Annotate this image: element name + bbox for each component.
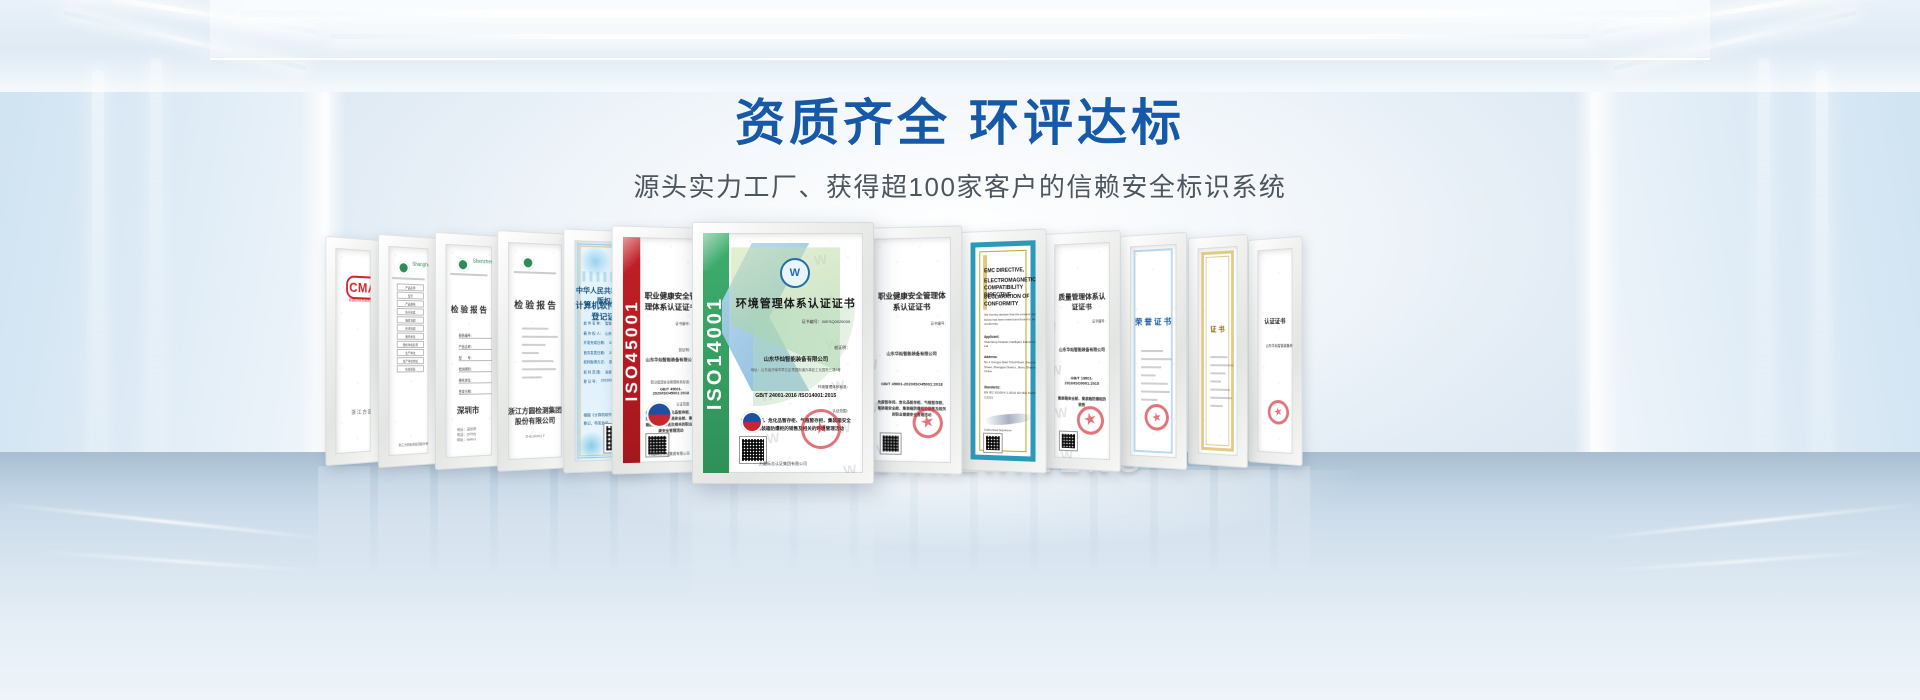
cma-badge: CMA: [346, 275, 370, 300]
iso-spine: ISO45001: [623, 237, 640, 463]
ce-body: We hereby declare that the product descr…: [984, 312, 1035, 326]
certificate-frame-quality-cert[interactable]: W W W WW W W WW W W WW W W WW W W WW W W…: [1044, 230, 1121, 472]
placeholder-text-line: [1210, 397, 1232, 400]
company-name: 山东华灿智能装备有限公司: [735, 355, 857, 363]
report-field: 检测类别：: [459, 366, 492, 372]
placeholder-text-line: [1210, 405, 1223, 407]
copyright-field-key: 权利取得方式：: [584, 359, 608, 364]
placeholder-text-line: [522, 368, 556, 370]
report-field: 报告编号：: [459, 333, 492, 339]
placeholder-text-line: [1210, 372, 1225, 374]
inspection-row: 检测日期: [397, 324, 424, 331]
cert-title: 质量管理体系认证证书: [1056, 291, 1107, 312]
certificate-frame-ce-declaration[interactable]: EMC DIRECTIVE, ELECTROMAGNETIC COMPATIBI…: [960, 228, 1047, 473]
cert-title: 认证证书: [1257, 316, 1292, 326]
cert-title: 环境管理体系认证证书: [735, 295, 857, 311]
center-certificate-reflection: [692, 484, 874, 604]
standard-label: 职业健康安全管理体系标准：: [644, 379, 699, 384]
placeholder-text-line: [1210, 356, 1227, 358]
official-seal: ★: [1266, 398, 1292, 427]
company-name: 山东华灿智能装备有限公司: [1056, 347, 1107, 353]
cert-footer: 浙江方圆检测集团股份有限公司: [392, 441, 428, 448]
issuer: 方圆标志认证集团有限公司: [643, 450, 695, 456]
copyright-field-key: 开发完成日期：: [584, 340, 608, 345]
placeholder-text-line: [522, 327, 548, 329]
signer-label: Authorized Signature: [984, 428, 1011, 433]
inspection-row: 执行标准: [397, 308, 424, 316]
iso-spine-label: ISO45001: [623, 299, 642, 402]
standard-value: GB/T 19001-2016/ISO9001:2015: [1056, 375, 1107, 386]
applicant-value: Shandong Huacan Intelligent Equipment Co…: [984, 340, 1035, 348]
applicant-label: Applicant:: [984, 335, 999, 339]
cert-footer-en: ZHEJIANG F: [508, 433, 562, 439]
cma-badge-sub: 检验检测机构资质认定: [343, 298, 371, 303]
inspection-row: 生产单位: [397, 349, 424, 356]
cert-title: 检 验 报 告: [508, 298, 562, 312]
report-field: 签发日期：: [459, 388, 492, 395]
cert-title: 职业健康安全管理体系认证证书: [644, 290, 699, 313]
standards-value: EN IEC 61000-6-1:2019; EN IEC 61000-6-3:…: [984, 390, 1035, 400]
company-label: 兹证明：: [735, 345, 850, 351]
company-name: 山东华灿智能装备有限公司: [876, 351, 948, 357]
certificate-frame-shenzhen-report[interactable]: Shenzhen 检 验 报 告 报告编号：产品名称：型 号：检测类别：委托单位…: [435, 232, 502, 470]
standard-value: GB/T 45001-2020/ISO45001:2018: [644, 387, 699, 396]
inspection-row: 生产单位地址: [397, 357, 424, 364]
inspection-row: 型号: [397, 292, 424, 300]
cert-no-label: 证书编号：: [876, 320, 948, 325]
standard-value: GB/T 24001-2016 /ISO14001:2015: [735, 393, 857, 399]
field-list: 报告编号：产品名称：型 号：检测类别：委托单位：签发日期：: [459, 333, 492, 401]
certificate-frame-inspection-table[interactable]: Shanghai 产品名称型号产品规格执行标准抽样日期检测日期委托单位受检单位名…: [378, 234, 438, 468]
certificate-wall: CMA 检验检测机构资质认定 浙 江 方 圆 Shanghai 产品名称型号产品…: [0, 0, 1920, 700]
company-name: 山东华灿智能装备有限公司: [1261, 343, 1293, 348]
certificate-frame-iso45001-detail[interactable]: W W W W WW W W W WW W W W WW W W W WW W …: [862, 225, 962, 474]
cert-title: 检 验 报 告: [445, 304, 492, 316]
cert-org: Shenzhen: [473, 259, 492, 266]
cert-org: Shanghai: [412, 262, 428, 269]
cert-title: 荣 誉 证 书: [1130, 316, 1177, 328]
company-address: 地址：山东省济南市章丘区枣园街道办事处工业园东三路1号: [735, 367, 857, 372]
placeholder-text-line: [522, 344, 546, 346]
inspection-row: 抽样日期: [397, 316, 424, 324]
placeholder-text-line: [1210, 389, 1230, 392]
placeholder-text-line: [522, 376, 542, 378]
qr-code: [740, 437, 766, 463]
placeholder-text-line: [1141, 358, 1172, 360]
company-label: 兹证明：: [644, 347, 699, 352]
inspection-row: 产品规格: [397, 300, 424, 308]
company-name: 山东华灿智能装备有限公司: [644, 357, 699, 363]
cert-no-label: 证书编号：: [644, 321, 699, 326]
placeholder-text-line: [1141, 399, 1158, 401]
placeholder-text-line: [1141, 350, 1164, 352]
placeholder-text-line: [522, 360, 553, 362]
cert-title: 证 书: [1198, 324, 1238, 335]
certificate-frame-iso14001[interactable]: W W W W W WW W W W W WW W W W W WW W W W…: [692, 222, 874, 484]
placeholder-text-line: [1141, 382, 1168, 384]
copyright-field-key: 权 利 范 围：: [584, 369, 604, 374]
report-field: 委托单位：: [459, 377, 492, 384]
cert-no-line: 证书编号：00ESQ0025005: [735, 319, 850, 325]
inspection-row: 检验项目: [397, 365, 424, 372]
standard-value: GB/T 45001-2020/ISO45001:2018: [876, 381, 948, 387]
certificate-frame-right-last[interactable]: 认证证书 山东华灿智能装备有限公司 ★: [1248, 236, 1303, 466]
placeholder-text-line: [1141, 374, 1156, 376]
placeholder-text-line: [1210, 364, 1233, 366]
copyright-field-key: 登 记 号：: [584, 378, 599, 383]
inspection-row: 受检单位名称: [397, 341, 424, 348]
cert-footer: 浙江方圆检测集团股份有限公司: [508, 405, 562, 427]
certificate-frame-gold[interactable]: 证 书: [1188, 234, 1248, 468]
inspection-row: 委托单位: [397, 333, 424, 340]
qr-code: [881, 433, 901, 454]
cert-no-label: 证书编号：: [1056, 318, 1107, 324]
qr-code: [1060, 432, 1077, 451]
certificate-frame-honor-blue[interactable]: 荣 誉 证 书 ★: [1120, 232, 1187, 470]
placeholder-text-line: [1141, 366, 1161, 368]
line-list: [522, 324, 562, 384]
cert-contact: 地址：深圳市 电话：(0755) 网址：www.s: [457, 426, 492, 443]
report-field: 产品名称：: [459, 344, 492, 350]
cert-title: 职业健康安全管理体系认证证书: [876, 290, 948, 313]
report-field: 型 号：: [459, 355, 492, 361]
issuer: 方圆标志认证集团有限公司: [703, 461, 863, 467]
cert-footer: 深圳市: [457, 405, 479, 417]
qr-code: [984, 434, 1002, 453]
placeholder-text-line: [522, 352, 539, 354]
ce-title-line1: EMC DIRECTIVE,: [984, 267, 1035, 276]
copyright-field-key: 著 作 权 人：: [584, 330, 604, 335]
scope-value: 集装箱安全舱、集装箱防爆柜的销售: [1057, 395, 1106, 408]
copyright-field-key: 首次发表日期：: [584, 349, 608, 354]
copyright-field-key: 软 件 名 称：: [584, 320, 604, 325]
inspection-row-list: 产品名称型号产品规格执行标准抽样日期检测日期委托单位受检单位名称生产单位生产单位…: [397, 283, 424, 373]
certification-emblem: W: [780, 258, 810, 288]
standard-label: 环境管理体系标准：: [735, 385, 850, 390]
address-value: No.1 Gongye East Third Road, Zaoyuan Str…: [984, 360, 1035, 374]
line-list: [1141, 347, 1177, 408]
placeholder-text-line: [522, 336, 558, 338]
placeholder-text-line: [1210, 380, 1221, 382]
placeholder-text-line: [1141, 390, 1170, 393]
banner-stage: 资质齐全 环评达标 源头实力工厂、获得超100家客户的信赖安全标识系统 CMA …: [0, 0, 1920, 700]
cert-footer: 浙 江 方 圆: [341, 408, 371, 417]
ce-title-line3: DECLARATION OF CONFORMITY: [984, 293, 1035, 308]
line-list: [1210, 353, 1237, 414]
address-label: Address:: [984, 355, 998, 359]
standards-label: Standards:: [984, 385, 1000, 389]
certificate-frame-cma-report[interactable]: CMA 检验检测机构资质认定 浙 江 方 圆: [325, 236, 380, 466]
inspection-row: 产品名称: [397, 283, 424, 291]
certificate-frame-zhejiang-report[interactable]: 检 验 报 告 浙江方圆检测集团股份有限公司 ZHEJIANG F: [497, 230, 572, 472]
